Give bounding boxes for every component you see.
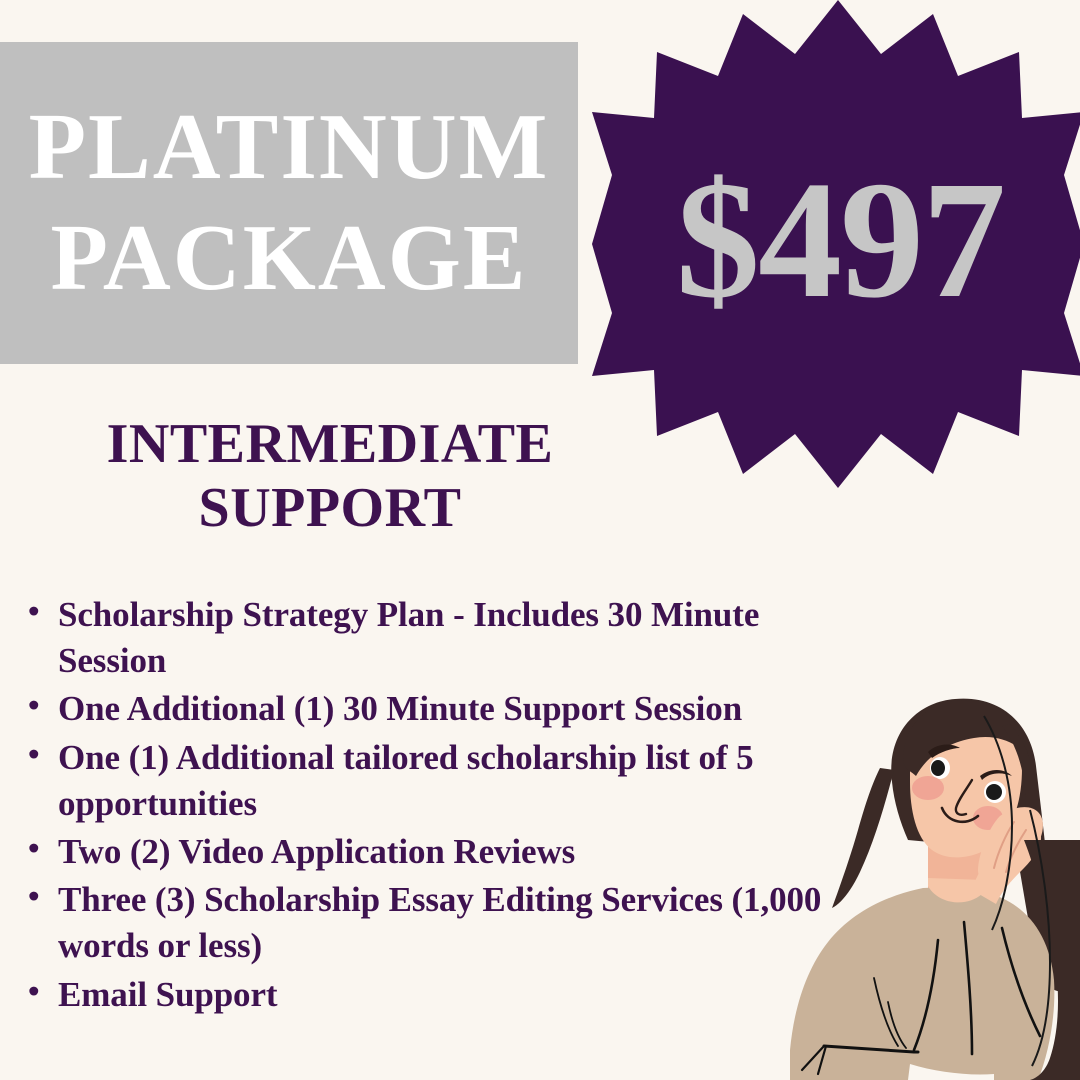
list-item: One (1) Additional tailored scholarship … bbox=[58, 735, 848, 827]
price-amount-wrapper: $497 bbox=[592, 0, 1080, 492]
sweater-shape bbox=[790, 888, 1054, 1080]
package-title-line-1: PLATINUM bbox=[29, 92, 550, 203]
feature-list: Scholarship Strategy Plan - Includes 30 … bbox=[18, 592, 848, 1020]
promotional-poster: PLATINUM PACKAGE $497 INTERMEDIATE SUPPO… bbox=[0, 0, 1080, 1080]
list-item: Three (3) Scholarship Essay Editing Serv… bbox=[58, 877, 848, 969]
price-badge: $497 bbox=[592, 0, 1080, 492]
pupil-right-shape bbox=[986, 784, 1002, 800]
list-item: One Additional (1) 30 Minute Support Ses… bbox=[58, 686, 848, 732]
list-item: Two (2) Video Application Reviews bbox=[58, 829, 848, 875]
subtitle-line-2: SUPPORT bbox=[30, 476, 630, 540]
support-level-subtitle: INTERMEDIATE SUPPORT bbox=[30, 412, 630, 541]
blush-left-shape bbox=[912, 776, 944, 800]
list-item: Scholarship Strategy Plan - Includes 30 … bbox=[58, 592, 848, 684]
woman-illustration bbox=[788, 690, 1080, 1080]
price-amount: $497 bbox=[676, 156, 1004, 324]
package-title-line-2: PACKAGE bbox=[50, 203, 527, 314]
package-title-banner: PLATINUM PACKAGE bbox=[0, 42, 578, 364]
hair-left-shape bbox=[832, 768, 894, 908]
subtitle-line-1: INTERMEDIATE bbox=[107, 413, 554, 475]
pupil-left-shape bbox=[931, 760, 945, 776]
list-item: Email Support bbox=[58, 972, 848, 1018]
